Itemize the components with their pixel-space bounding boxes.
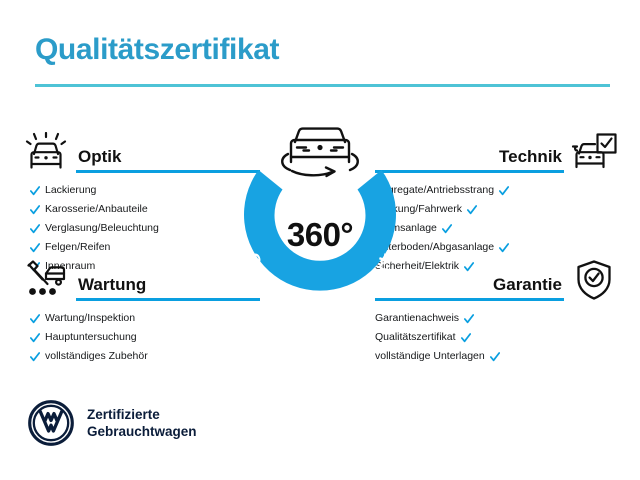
check-icon bbox=[467, 205, 477, 215]
list-item-label: Verglasung/Beleuchtung bbox=[45, 219, 159, 238]
list-item: Qualitätszertifikat bbox=[375, 328, 620, 347]
list-item-label: Felgen/Reifen bbox=[45, 238, 110, 257]
check-icon bbox=[30, 224, 40, 234]
list-item-label: Karosserie/Anbauteile bbox=[45, 200, 148, 219]
check-icon bbox=[30, 243, 40, 253]
footer-text: Zertifizierte Gebrauchtwagen bbox=[87, 406, 197, 440]
footer-brand-lockup: Zertifizierte Gebrauchtwagen bbox=[28, 400, 197, 446]
list-item-label: vollständige Unterlagen bbox=[375, 347, 485, 366]
wrench-car-icon bbox=[20, 258, 72, 302]
badge-center-label: 360° bbox=[222, 216, 418, 254]
list-item: vollständiges Zubehör bbox=[20, 347, 260, 366]
check-icon bbox=[30, 352, 40, 362]
check-icon bbox=[30, 314, 40, 324]
check-icon bbox=[30, 205, 40, 215]
check-icon bbox=[499, 243, 509, 253]
check-icon bbox=[490, 352, 500, 362]
check-icon bbox=[464, 314, 474, 324]
car-rotate-360-icon bbox=[282, 129, 358, 176]
list-item-label: Wartung/Inspektion bbox=[45, 309, 135, 328]
badge-360-gebrauchtwagen-check: Gebrauchtwagen-Check 360° bbox=[222, 112, 418, 312]
car-checkbox-icon bbox=[568, 130, 620, 174]
list-item-label: Hauptuntersuchung bbox=[45, 328, 137, 347]
title-divider bbox=[35, 84, 610, 87]
footer-line-1: Zertifizierte bbox=[87, 406, 197, 423]
vw-logo-icon bbox=[28, 400, 74, 446]
footer-line-2: Gebrauchtwagen bbox=[87, 423, 197, 440]
list-item: vollständige Unterlagen bbox=[375, 347, 620, 366]
page-title: Qualitätszertifikat bbox=[35, 33, 279, 67]
checklist-garantie: Garantienachweis Qualitätszertifikat vol… bbox=[375, 309, 620, 366]
check-icon bbox=[30, 333, 40, 343]
list-item: Hauptuntersuchung bbox=[20, 328, 260, 347]
check-icon bbox=[461, 333, 471, 343]
certificate-page: Qualitätszertifikat bbox=[0, 0, 640, 480]
checklist-wartung: Wartung/Inspektion Hauptuntersuchung vol… bbox=[20, 309, 260, 366]
check-icon bbox=[442, 224, 452, 234]
list-item-label: vollständiges Zubehör bbox=[45, 347, 148, 366]
list-item-label: Lackierung bbox=[45, 181, 96, 200]
check-icon bbox=[499, 186, 509, 196]
check-icon bbox=[30, 186, 40, 196]
car-front-shine-icon bbox=[20, 130, 72, 174]
shield-check-icon bbox=[568, 258, 620, 302]
list-item-label: Qualitätszertifikat bbox=[375, 328, 456, 347]
